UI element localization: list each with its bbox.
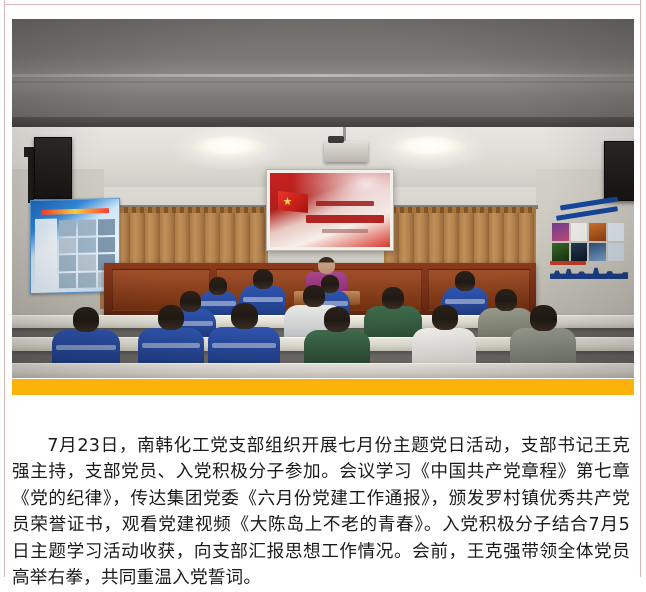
poster-text-column bbox=[35, 218, 57, 289]
wall-photo-collage bbox=[552, 223, 624, 261]
ceiling-lamp-icon bbox=[192, 136, 266, 158]
frame-rule-left bbox=[4, 0, 5, 577]
frame-rule-right bbox=[640, 0, 641, 577]
article-body: 7月23日，南韩化工党支部组织开展七月份主题党日活动，支部书记王克强主持，支部党… bbox=[12, 433, 630, 592]
slide-title-line-2 bbox=[306, 215, 384, 223]
wall-speaker-right bbox=[604, 141, 634, 201]
article-page: 7月23日，南韩化工党支部组织开展七月份主题党日活动，支部书记王克强主持，支部党… bbox=[0, 0, 646, 577]
party-flag-icon bbox=[278, 191, 308, 213]
ceiling-lamp-icon bbox=[392, 136, 466, 158]
presentation-slide bbox=[270, 173, 390, 247]
bench-desk-front bbox=[12, 363, 634, 378]
city-skyline-icon bbox=[550, 265, 628, 279]
projector-icon bbox=[324, 141, 368, 162]
poster-title-band bbox=[41, 208, 109, 215]
projection-screen bbox=[266, 169, 394, 251]
wall-speaker-left bbox=[34, 137, 72, 199]
ceiling-slab bbox=[12, 19, 634, 119]
article-photo bbox=[12, 19, 634, 378]
accent-bar bbox=[12, 379, 634, 395]
wall-subtitle-band bbox=[550, 261, 586, 265]
curtain-header-right bbox=[384, 207, 536, 213]
slide-title-line-3 bbox=[322, 229, 368, 233]
ceiling-seam-shadow bbox=[12, 81, 634, 83]
slide-title-line-1 bbox=[316, 201, 374, 206]
right-wall-art bbox=[540, 197, 634, 287]
curtain-header-left bbox=[100, 207, 268, 213]
ceiling-seam bbox=[12, 74, 634, 77]
photo-scene bbox=[12, 19, 634, 378]
frame-rule-top bbox=[4, 4, 641, 5]
presenter-head bbox=[318, 257, 335, 274]
